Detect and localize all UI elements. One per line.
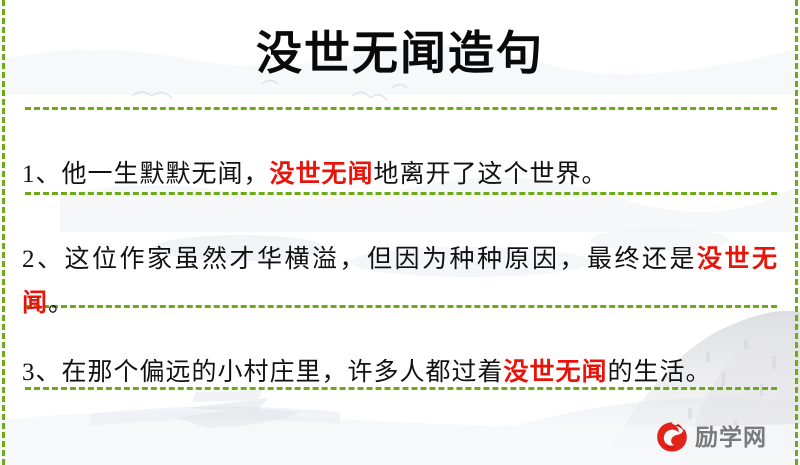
example-sentence-3: 3、在那个偏远的小村庄里，许多人都过着没世无闻的生活。 bbox=[22, 351, 778, 395]
sentence-3-part-3: 的生活。 bbox=[608, 359, 712, 386]
sentence-2-index: 2、 bbox=[22, 246, 65, 273]
sentence-2-part-3: 。 bbox=[48, 290, 74, 317]
page-title: 没世无闻造句 bbox=[0, 26, 800, 82]
watermark-brand-name: 励学网 bbox=[695, 420, 767, 454]
document-page: 没世无闻造句 1、他一生默默无闻，没世无闻地离开了这个世界。 2、这位作家虽然才… bbox=[0, 0, 800, 465]
site-watermark-logo: 励学网 bbox=[655, 416, 785, 458]
example-sentence-2: 2、这位作家虽然才华横溢，但因为种种原因，最终还是没世无闻。 bbox=[22, 238, 778, 326]
sentence-1-index: 1、 bbox=[22, 161, 62, 188]
sentence-1-part-3: 地离开了这个世界。 bbox=[374, 161, 608, 188]
page-content: 没世无闻造句 1、他一生默默无闻，没世无闻地离开了这个世界。 2、这位作家虽然才… bbox=[0, 0, 800, 465]
sentence-1-part-1: 他一生默默无闻， bbox=[62, 161, 270, 188]
sentence-3-index: 3、 bbox=[22, 359, 62, 386]
sentence-3-part-1: 在那个偏远的小村庄里，许多人都过着 bbox=[62, 359, 504, 386]
frame-border-right bbox=[795, 0, 798, 465]
sentence-2-part-1: 这位作家虽然才华横溢，但因为种种原因，最终还是 bbox=[65, 246, 697, 273]
frame-border-left bbox=[2, 0, 5, 465]
example-sentence-1: 1、他一生默默无闻，没世无闻地离开了这个世界。 bbox=[22, 153, 778, 197]
sentence-3-highlight: 没世无闻 bbox=[504, 359, 608, 386]
divider-line-1 bbox=[25, 107, 777, 110]
red-swirl-logo-icon bbox=[655, 420, 689, 454]
sentence-1-highlight: 没世无闻 bbox=[270, 161, 374, 188]
